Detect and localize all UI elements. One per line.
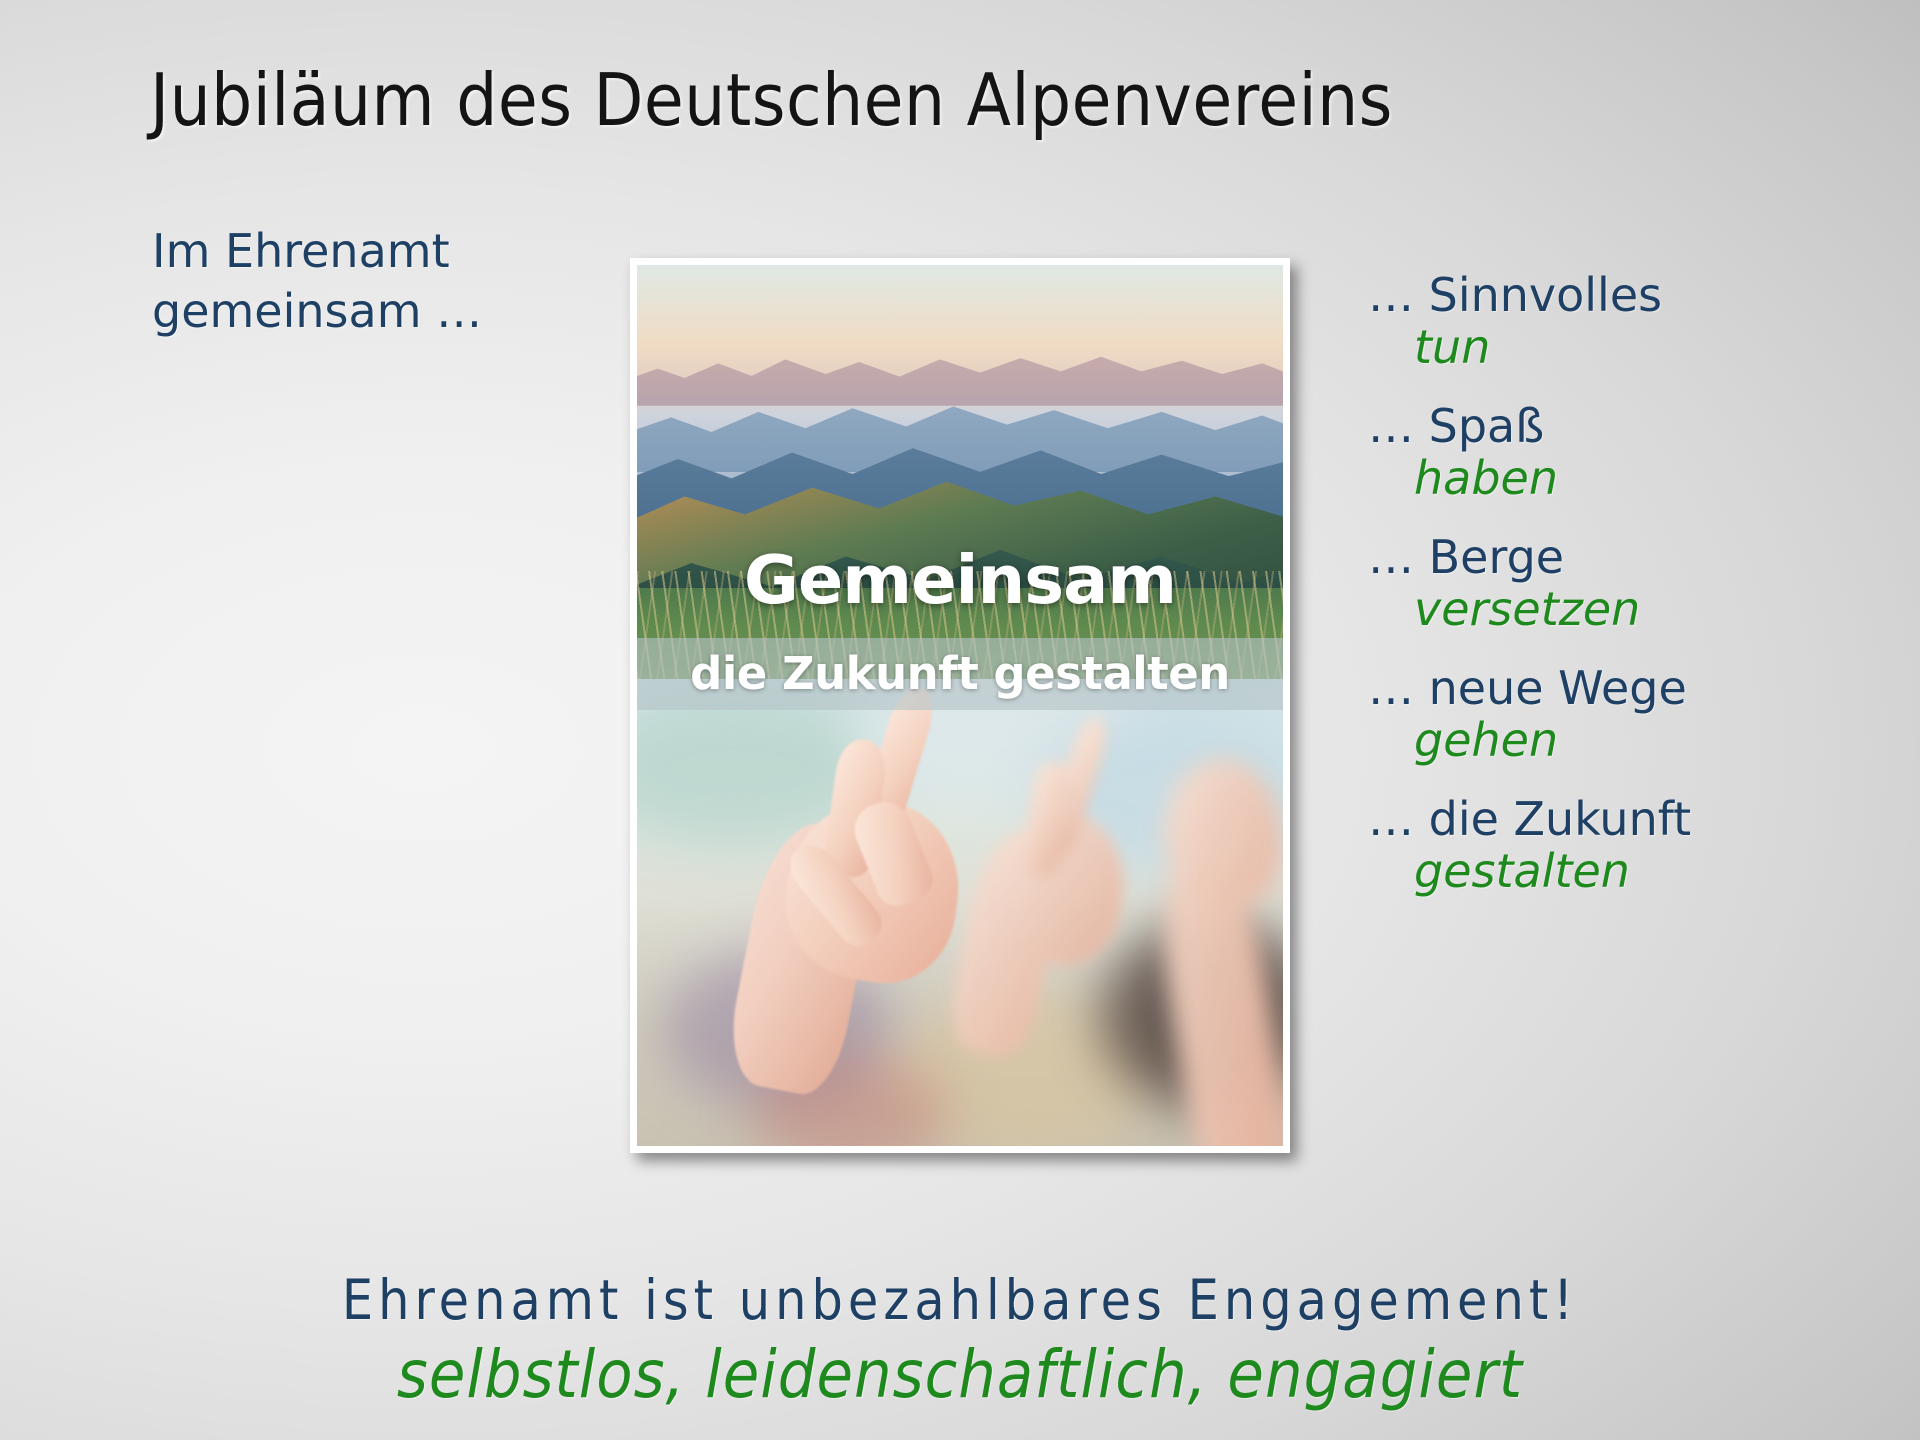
raised-hands-image [637, 679, 1283, 1146]
list-item-lead: … Spaß [1368, 401, 1908, 453]
raised-hand-right [1141, 744, 1283, 1118]
raised-hand-primary [740, 698, 998, 1044]
bottom-tagline-block: Ehrenamt ist unbezahlbares Engagement! s… [0, 1269, 1920, 1414]
left-text-block: Im Ehrenamt gemeinsam … [152, 222, 572, 342]
mountain-landscape-image [637, 265, 1283, 679]
photo-subheadline-band: die Zukunft gestalten [637, 638, 1283, 710]
list-item: … die Zukunft gestalten [1368, 794, 1908, 897]
left-text-line-1: Im Ehrenamt [152, 222, 572, 282]
page-title: Jubiläum des Deutschen Alpenvereins [150, 62, 1790, 140]
photo-subheadline: die Zukunft gestalten [690, 651, 1230, 696]
left-text-line-2: gemeinsam … [152, 282, 572, 342]
presentation-slide: Jubiläum des Deutschen Alpenvereins Im E… [0, 0, 1920, 1440]
list-item: … Berge versetzen [1368, 532, 1908, 635]
photo-composite: Gemeinsam die Zukunft gestalten [637, 265, 1283, 1146]
right-bullet-list: … Sinnvolles tun … Spaß haben … Berge ve… [1368, 270, 1908, 925]
list-item-verb: gehen [1368, 715, 1908, 767]
list-item-verb: versetzen [1368, 584, 1908, 636]
list-item-verb: gestalten [1368, 846, 1908, 898]
list-item-lead: … Berge [1368, 532, 1908, 584]
ridge-far-layer [637, 340, 1283, 406]
list-item-lead: … die Zukunft [1368, 794, 1908, 846]
list-item: … Spaß haben [1368, 401, 1908, 504]
bottom-tagline-line-2: selbstlos, leidenschaftlich, engagiert [0, 1335, 1920, 1414]
list-item-lead: … Sinnvolles [1368, 270, 1908, 322]
list-item-verb: haben [1368, 453, 1908, 505]
bottom-tagline-line-1: Ehrenamt ist unbezahlbares Engagement! [0, 1269, 1920, 1333]
list-item-lead: … neue Wege [1368, 663, 1908, 715]
list-item: … Sinnvolles tun [1368, 270, 1908, 373]
center-photo-frame: Gemeinsam die Zukunft gestalten [630, 258, 1290, 1153]
list-item: … neue Wege gehen [1368, 663, 1908, 766]
list-item-verb: tun [1368, 322, 1908, 374]
